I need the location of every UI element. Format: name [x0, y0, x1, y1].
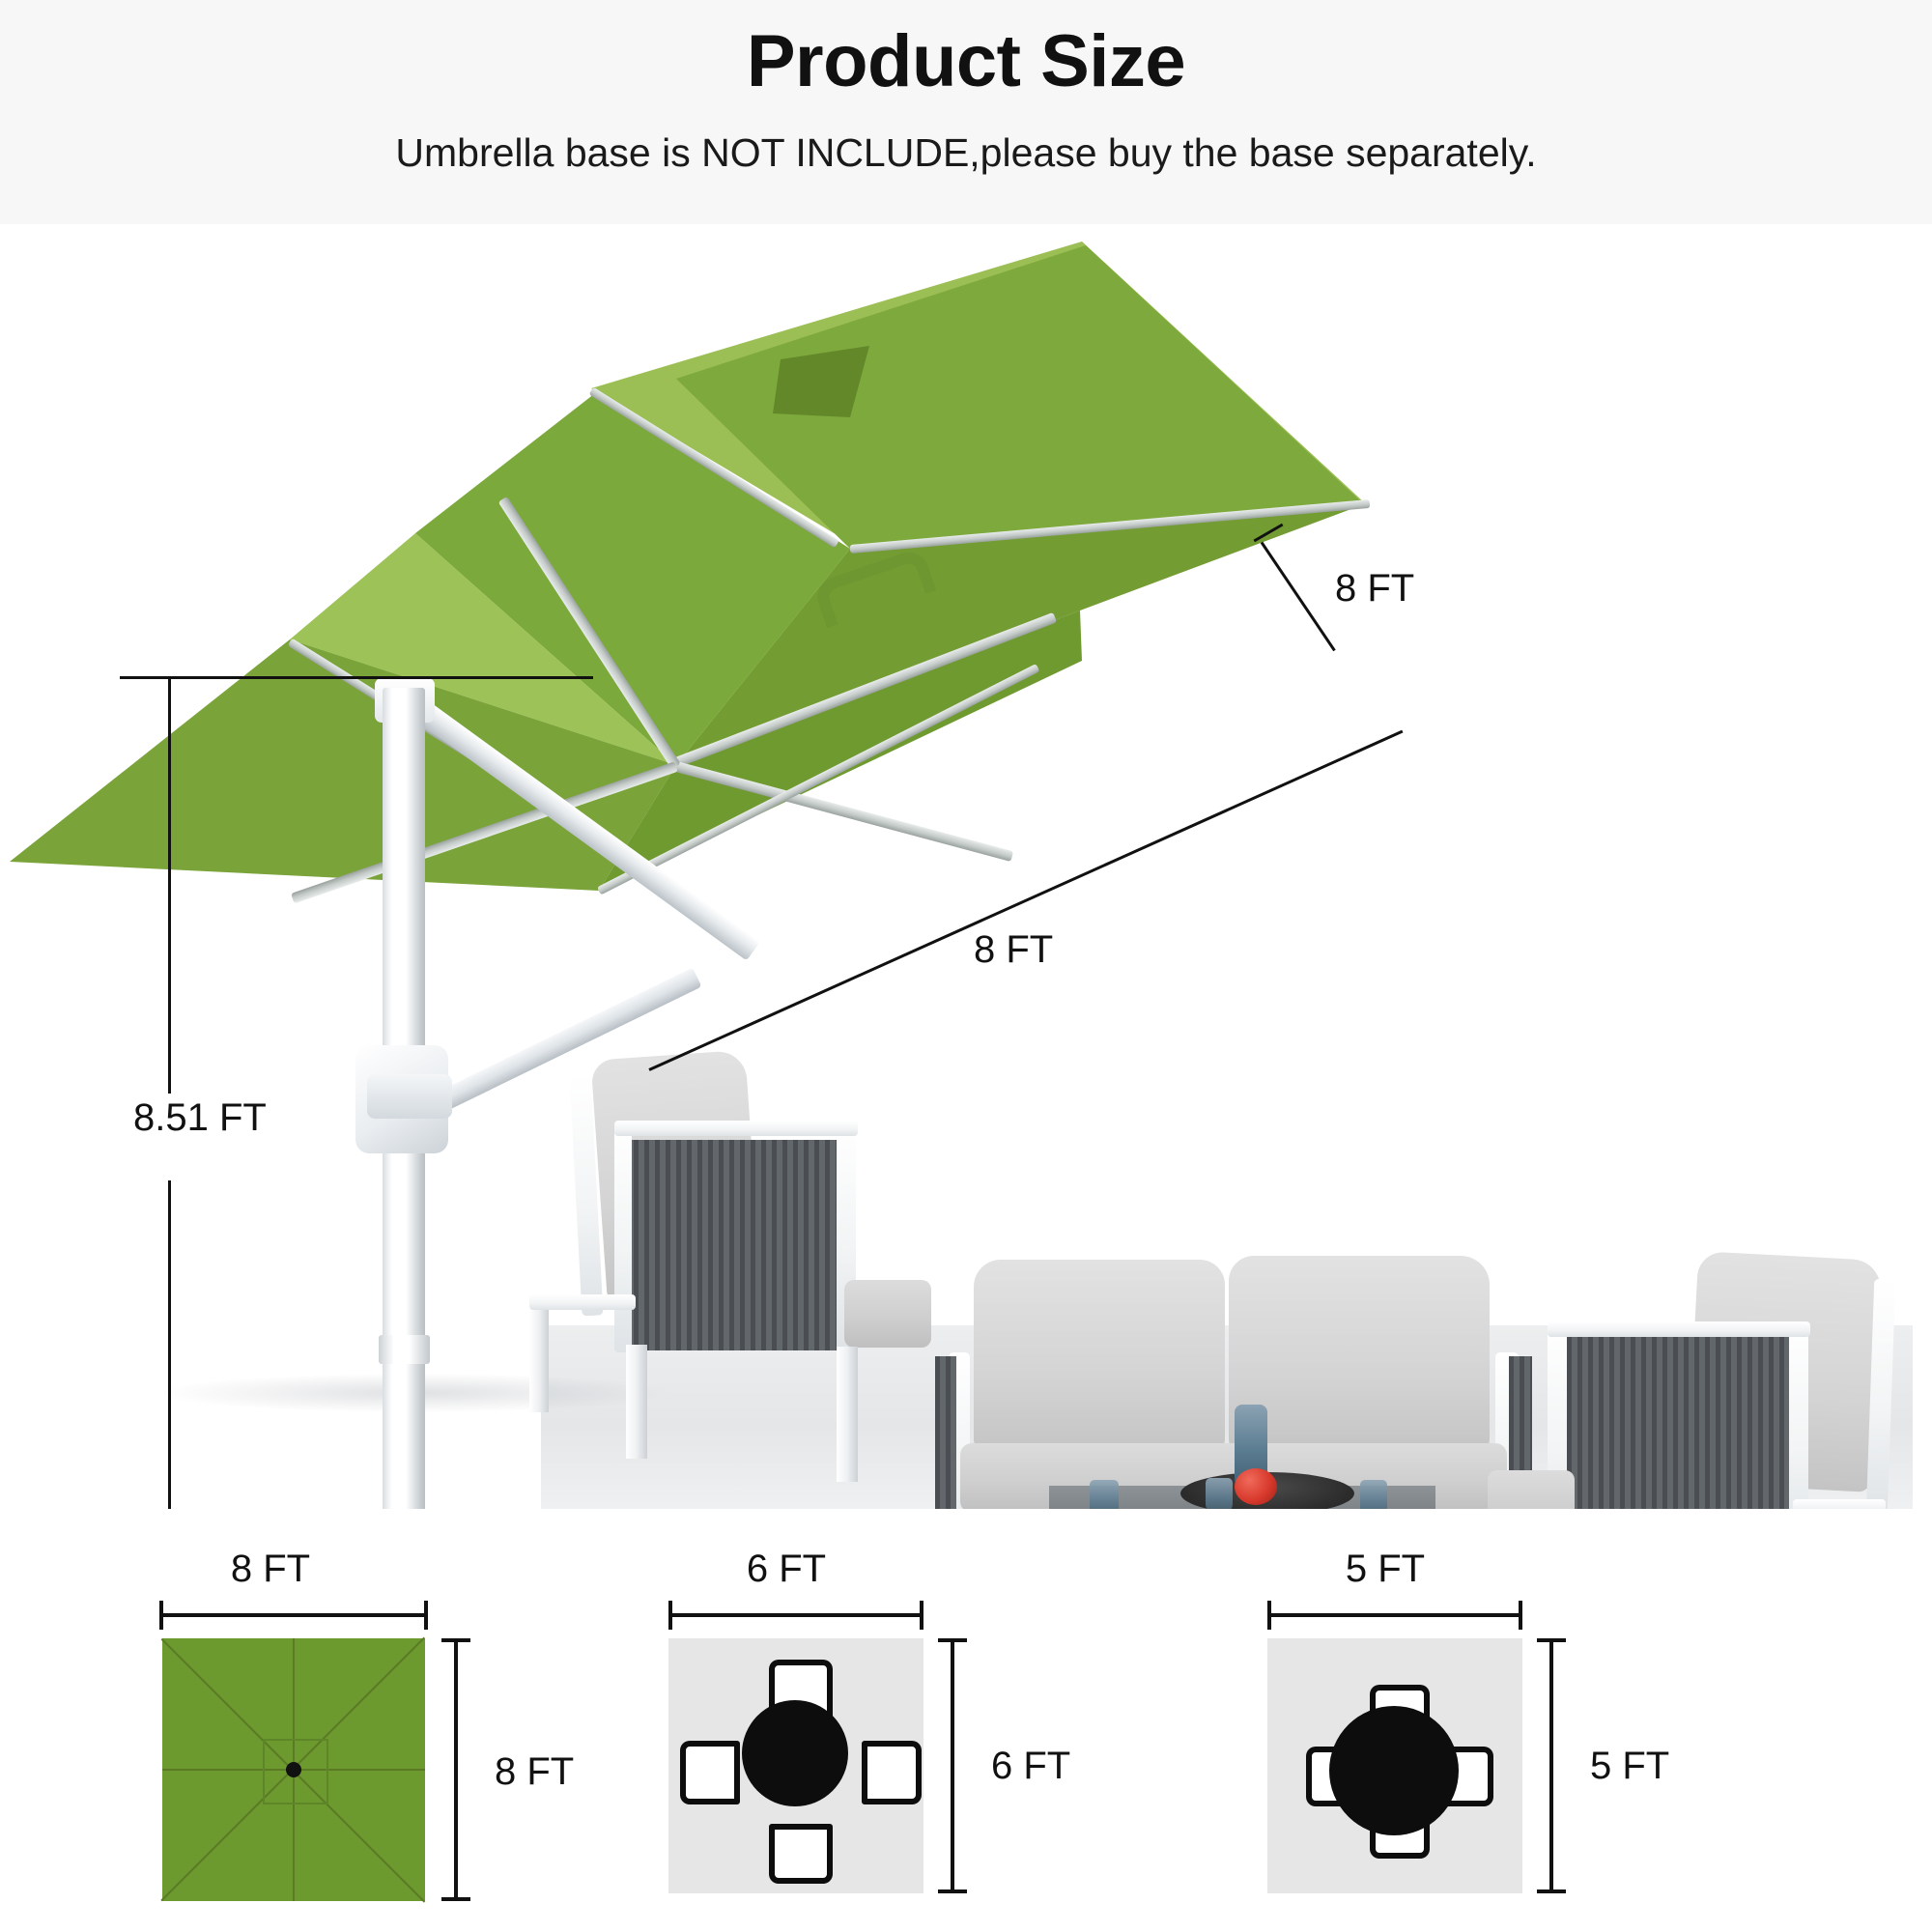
- diagram-2-right-dim-bar: [951, 1638, 954, 1893]
- diagram-six-foot-clearance: 6 FT 6 FT: [618, 1546, 1217, 1932]
- diagram-2-chair-left: [680, 1741, 740, 1804]
- product-size-infographic: Product Size Umbrella base is NOT INCLUD…: [0, 0, 1932, 1932]
- dim-cap-top: [441, 1638, 470, 1642]
- diagram-3-top-label: 5 FT: [1153, 1548, 1617, 1591]
- hero-product-scene: 8.51 FT 8 FT 8 FT: [0, 224, 1932, 1509]
- diagram-2-right-label: 6 FT: [991, 1745, 1070, 1788]
- blue-glass-mid: [1206, 1478, 1233, 1509]
- left-chair-leg-far: [529, 1306, 549, 1412]
- right-chair-arm-right: [1789, 1321, 1808, 1509]
- dim-cap-left: [159, 1601, 163, 1630]
- height-dim-label: 8.51 FT: [133, 1098, 327, 1137]
- diagram-3-right-label: 5 FT: [1590, 1745, 1669, 1788]
- left-chair-leg-back: [837, 1347, 858, 1482]
- dim-cap-bottom: [938, 1889, 967, 1893]
- left-chair-arm-top: [614, 1121, 858, 1136]
- diagram-2-chair-right: [862, 1741, 922, 1804]
- diagram-1-center-pole-dot: [286, 1762, 301, 1777]
- diagram-2-top-label: 6 FT: [554, 1548, 1018, 1591]
- left-chair-rope-panel: [623, 1140, 845, 1350]
- diagram-five-foot-clearance: 5 FT 5 FT: [1217, 1546, 1816, 1932]
- loveseat-rope-left: [935, 1356, 956, 1509]
- left-chair-seat-cushion: [844, 1280, 931, 1348]
- diagram-2-round-table: [742, 1700, 848, 1806]
- right-chair-arm-top: [1548, 1321, 1810, 1337]
- loveseat-back-cushion-right: [1229, 1256, 1490, 1453]
- diagram-1-right-label: 8 FT: [495, 1750, 574, 1794]
- right-chair-side-rail: [1793, 1499, 1886, 1509]
- dim-cap-left: [1267, 1601, 1271, 1630]
- header-band: Product Size Umbrella base is NOT INCLUD…: [0, 0, 1932, 224]
- diagram-1-top-dim-bar: [159, 1613, 428, 1617]
- diagram-1-right-dim-bar: [454, 1638, 458, 1901]
- dim-cap-left: [668, 1601, 672, 1630]
- height-dim-top-tick: [120, 676, 593, 679]
- right-chair-rope-panel: [1567, 1337, 1795, 1509]
- diagram-2-chair-bottom: [769, 1824, 833, 1884]
- blue-glass-left: [1090, 1480, 1119, 1509]
- dim-cap-right: [920, 1601, 923, 1630]
- dim-cap-right: [1519, 1601, 1522, 1630]
- left-chair-arm-frame: [614, 1122, 632, 1352]
- diagram-3-top-dim-bar: [1267, 1613, 1522, 1617]
- pomegranate: [1235, 1468, 1277, 1505]
- diagram-1-top-label: 8 FT: [39, 1548, 502, 1591]
- diagram-3-right-dim-bar: [1549, 1638, 1553, 1893]
- dim-cap-bottom: [441, 1897, 470, 1901]
- footprint-diagrams: 8 FT 8 FT 6 FT: [0, 1546, 1932, 1932]
- dim-cap-top: [1537, 1638, 1566, 1642]
- depth-dim-label: 8 FT: [1335, 567, 1414, 611]
- dim-cap-top: [938, 1638, 967, 1642]
- dim-cap-bottom: [1537, 1889, 1566, 1893]
- left-chair-leg-front: [626, 1345, 647, 1459]
- right-chair-seat-cushion: [1488, 1470, 1575, 1509]
- blue-glass-right: [1360, 1480, 1387, 1509]
- patio-furniture-set: [0, 224, 1932, 1509]
- dim-cap-right: [424, 1601, 428, 1630]
- width-dim-label: 8 FT: [974, 928, 1053, 972]
- header-subtitle: Umbrella base is NOT INCLUDE,please buy …: [395, 133, 1536, 173]
- diagram-2-top-dim-bar: [668, 1613, 923, 1617]
- loveseat-back-cushion-left: [974, 1260, 1225, 1453]
- diagram-3-round-table: [1329, 1706, 1459, 1835]
- left-chair-side-rail: [529, 1294, 636, 1310]
- page-title: Product Size: [747, 25, 1185, 99]
